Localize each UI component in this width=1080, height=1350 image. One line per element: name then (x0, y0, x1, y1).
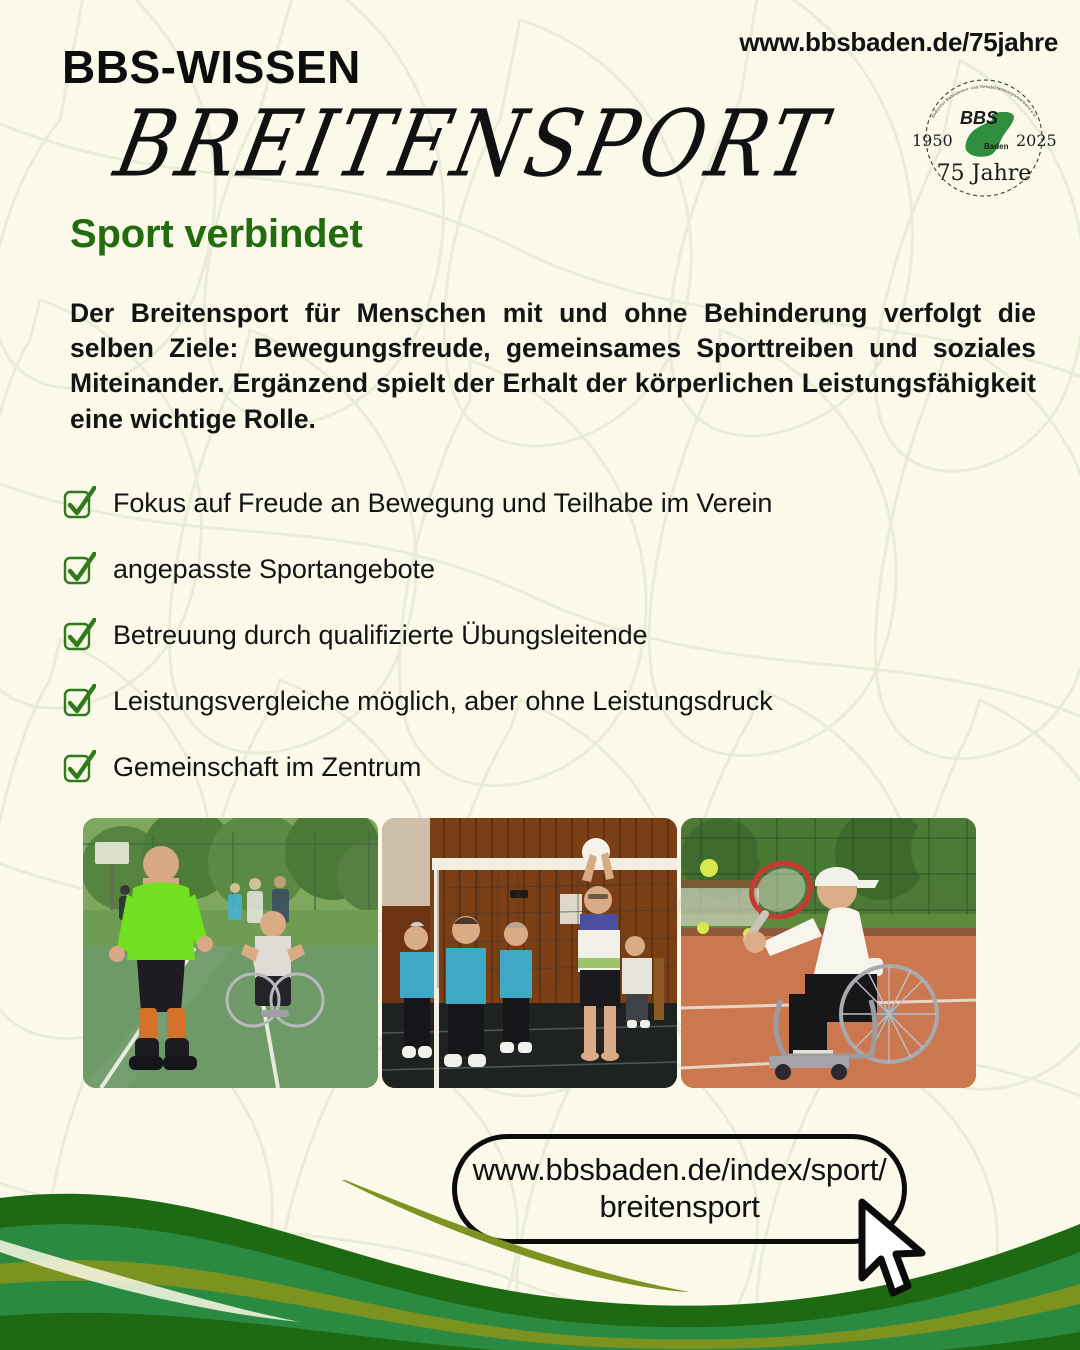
checklist-item: Leistungsvergleiche möglich, aber ohne L… (62, 668, 1022, 734)
checklist-item: Fokus auf Freude an Bewegung und Teilhab… (62, 470, 1022, 536)
pointer-cursor-icon (848, 1196, 933, 1306)
feature-checklist: Fokus auf Freude an Bewegung und Teilhab… (62, 470, 1022, 800)
checklist-item-label: angepasste Sportangebote (113, 554, 435, 585)
checklist-item-label: Betreuung durch qualifizierte Übungsleit… (113, 620, 647, 651)
section-headline: Sport verbindet (70, 212, 363, 257)
checklist-item: angepasste Sportangebote (62, 536, 1022, 602)
checklist-item-label: Leistungsvergleiche möglich, aber ohne L… (113, 686, 773, 717)
photo-wheelchair-tennis (681, 818, 976, 1088)
photo-gallery (83, 818, 976, 1088)
header-website-url[interactable]: www.bbsbaden.de/75jahre (739, 27, 1058, 58)
checkbox-check-icon (62, 552, 96, 586)
page-title: BREITENSPORT (107, 92, 838, 198)
badge-brand: BBS (960, 108, 998, 128)
checkbox-check-icon (62, 618, 96, 652)
checklist-item-label: Gemeinschaft im Zentrum (113, 752, 421, 783)
photo-indoor-volleyball (382, 818, 677, 1088)
intro-paragraph: Der Breitensport für Menschen mit und oh… (70, 296, 1036, 437)
checkbox-check-icon (62, 684, 96, 718)
badge-year-to: 2025 (1016, 131, 1057, 150)
checkbox-check-icon (62, 486, 96, 520)
bbs-75-jahre-logo: Badischer Behinderten- und Rehabilitatio… (908, 76, 1060, 201)
checklist-item-label: Fokus auf Freude an Bewegung und Teilhab… (113, 488, 772, 519)
badge-year-from: 1950 (912, 131, 953, 150)
photo-running-track (83, 818, 378, 1088)
badge-anniversary: 75 Jahre (937, 161, 1032, 186)
poster-root: www.bbsbaden.de/75jahre BBS-WISSEN BREIT… (0, 0, 1080, 1350)
page-kicker: BBS-WISSEN (62, 40, 361, 94)
badge-region: Baden (984, 142, 1009, 151)
checklist-item: Gemeinschaft im Zentrum (62, 734, 1022, 800)
checkbox-check-icon (62, 750, 96, 784)
checklist-item: Betreuung durch qualifizierte Übungsleit… (62, 602, 1022, 668)
